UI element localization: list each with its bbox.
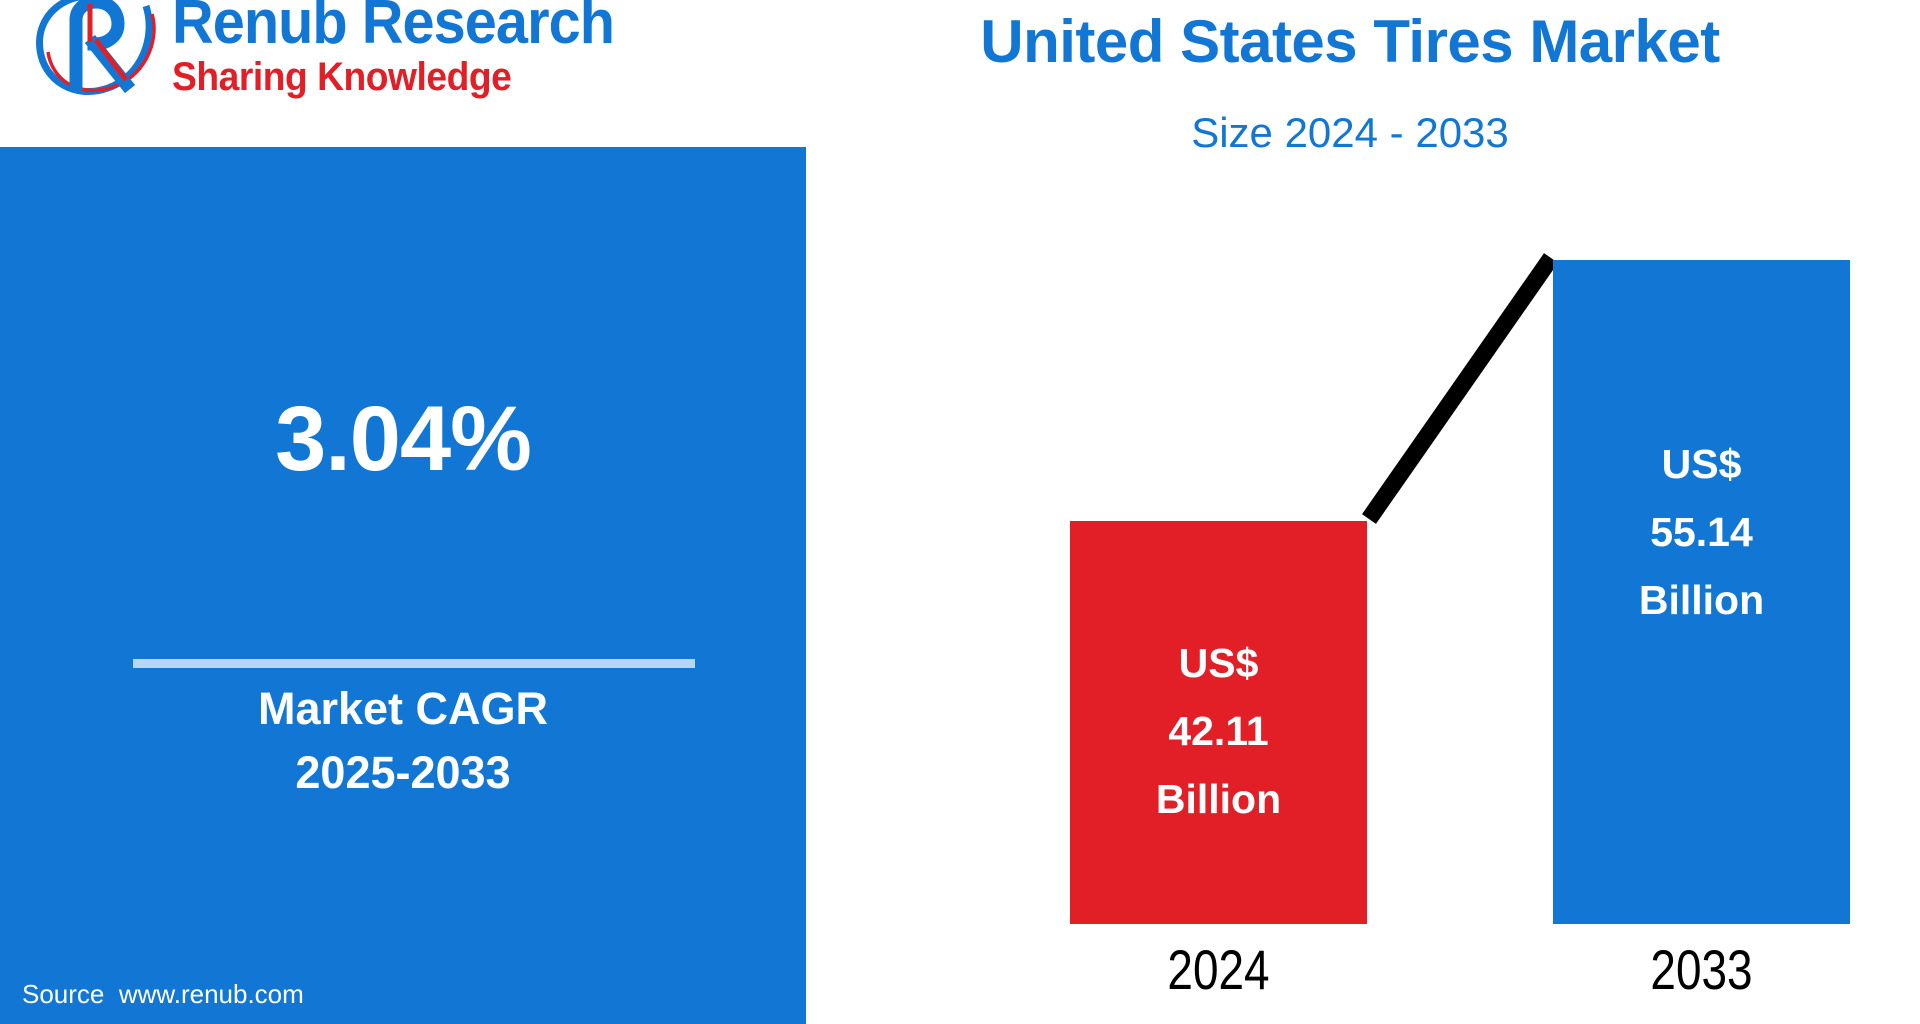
bar-2024-number: 42.11 [1070,697,1367,765]
axis-label-2033: 2033 [1580,938,1824,1002]
brand-name: Renub Research [172,0,609,54]
bar-2033-value-label: US$ 55.14 Billion [1553,430,1850,634]
axis-label-2024: 2024 [1097,938,1341,1002]
cagr-divider [133,659,695,668]
cagr-panel: 3.04% Market CAGR 2025-2033 Source www.r… [0,147,806,1024]
brand-logo: Renub Research Sharing Knowledge [20,0,660,104]
bar-chart-plot-area: US$ 42.11 Billion US$ 55.14 Billion 2024… [806,0,1920,1024]
bar-2024-scale: Billion [1070,765,1367,833]
bar-2024-currency: US$ [1070,629,1367,697]
bar-2024: US$ 42.11 Billion [1070,521,1367,924]
renub-r-logo-icon [34,0,166,104]
bar-2024-value-label: US$ 42.11 Billion [1070,629,1367,833]
cagr-label-primary: Market CAGR [0,681,806,737]
bar-2033: US$ 55.14 Billion [1553,260,1850,924]
bar-2033-scale: Billion [1553,566,1850,634]
brand-wordmark: Renub Research Sharing Knowledge [172,0,642,98]
source-note: Source www.renub.com [22,978,304,1010]
cagr-value: 3.04% [0,389,806,489]
brand-tagline: Sharing Knowledge [172,56,609,98]
cagr-label-period: 2025-2033 [0,745,806,801]
bar-2033-number: 55.14 [1553,498,1850,566]
infographic-canvas: Renub Research Sharing Knowledge United … [0,0,1920,1024]
bar-2033-currency: US$ [1553,430,1850,498]
